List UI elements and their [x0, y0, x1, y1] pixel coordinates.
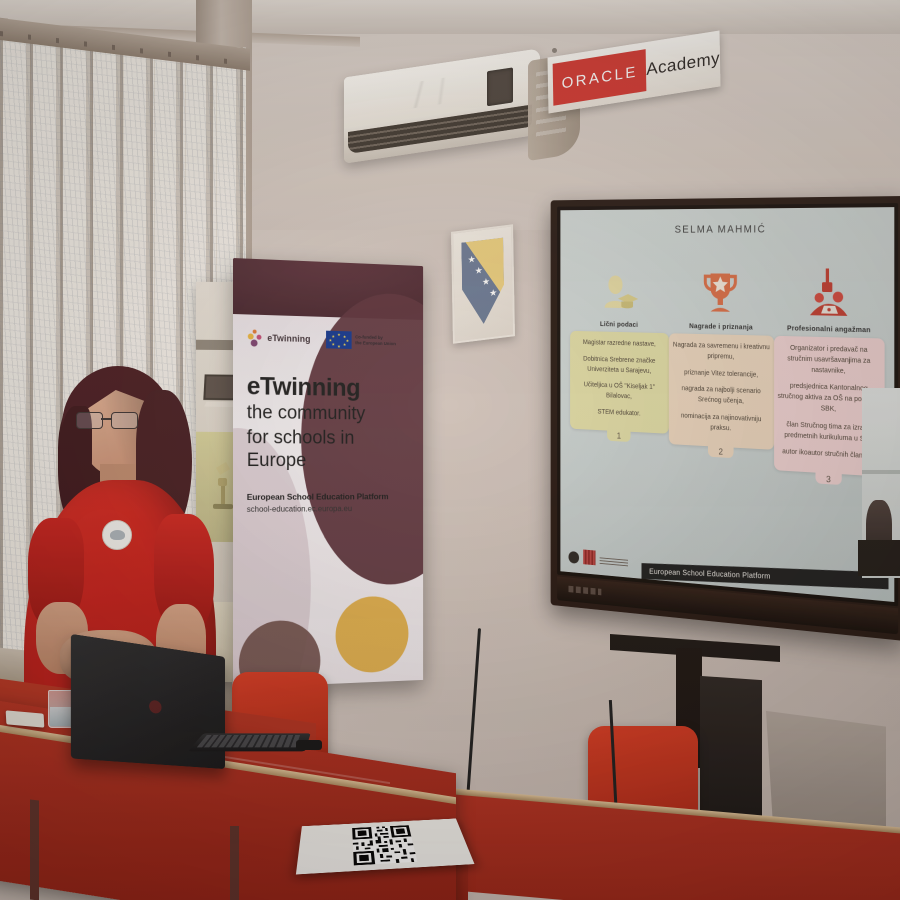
card-line: nominacija za najinovativniju praksu. — [673, 410, 771, 435]
slide-column: Nagrade i priznanja Nagrada za savremenu… — [673, 258, 771, 470]
room-photo-scene: ORACLE Academy ★ ★ ★ ★ ★ SELMA MAH — [0, 0, 900, 900]
footer-band: European School Education Platform — [642, 563, 889, 589]
slide-footer-logos — [568, 548, 628, 568]
text-logo-icon — [600, 557, 628, 568]
card-line: nagrada za najbolji scenario Srećnog uče… — [673, 384, 771, 409]
slide-columns: Lični podaci Magistar razredne nastave, … — [573, 258, 880, 477]
name-badge — [102, 520, 132, 550]
banner-subhead-2: for schools in Europe — [247, 428, 410, 473]
academy-label: Academy — [646, 48, 720, 80]
column-heading: Lični podaci — [600, 320, 638, 329]
column-heading: Profesionalni angažman — [787, 324, 871, 335]
graduate-person-icon — [600, 258, 638, 316]
column-card: Nagrada za savremenu i kreativnu priprem… — [669, 333, 774, 449]
card-line: Učiteljica u OŠ "Kiseljak 1" Bilalovac, — [573, 380, 665, 404]
slide-title: SELMA MAHMIĆ — [560, 223, 894, 236]
banner-content: eTwinning ★★ ★★ ★★ ★★ Co-funded by the E… — [233, 314, 423, 688]
banner-url: school-education.ec.europa.eu — [247, 504, 410, 514]
card-line: Organizator i predavač na stručnim usavr… — [777, 343, 880, 378]
ac-display-icon — [487, 68, 512, 106]
people-at-desk-icon — [802, 259, 854, 320]
eu-funding-text: Co-funded by the European Union — [355, 334, 396, 347]
slide-column: Lični podaci Magistar razredne nastave, … — [573, 258, 665, 464]
desk-leg — [30, 800, 39, 900]
eyeglasses-icon — [76, 412, 138, 429]
banner-headline: eTwinning — [247, 374, 410, 401]
screen-bezel: SELMA MAHMIĆ Lični podaci — [557, 203, 898, 606]
footer-band-label: European School Education Platform — [649, 567, 770, 580]
card-line: Nagrada za savremenu i kreativnu priprem… — [673, 340, 771, 363]
oracle-wordmark: ORACLE — [561, 63, 637, 92]
coat-of-arms-plaque: ★ ★ ★ ★ ★ — [451, 224, 515, 343]
bosnia-coat-of-arms-icon: ★ ★ ★ ★ ★ — [461, 238, 504, 327]
circle-logo-icon — [568, 551, 579, 564]
card-number: 2 — [669, 443, 774, 462]
etwinning-rollup-banner: eTwinning ★★ ★★ ★★ ★★ Co-funded by the E… — [233, 258, 423, 688]
eu-funding-logo: ★★ ★★ ★★ ★★ Co-funded by the European Un… — [326, 331, 396, 350]
card-line: Dobitnica Srebrene značke Univerziteta u… — [573, 354, 665, 377]
card-line: priznanje Vitez tolerancije, — [673, 367, 771, 381]
column-card: Magistar razredne nastave, Dobitnica Sre… — [570, 331, 669, 434]
banner-platform-label: European School Education Platform — [247, 492, 410, 503]
sign-screw — [552, 48, 557, 53]
card-line: STEM edukator. — [573, 406, 665, 420]
book-logo-icon — [583, 549, 595, 565]
etwinning-mark-icon — [247, 329, 264, 346]
laptop-cable — [296, 740, 322, 750]
far-window-mullion — [862, 470, 900, 474]
qr-code-icon — [352, 825, 417, 865]
oracle-logo-box: ORACLE — [553, 49, 647, 105]
etwinning-logo: eTwinning — [247, 329, 311, 348]
trophy-icon — [700, 258, 742, 318]
eu-flag-icon: ★★ ★★ ★★ ★★ — [326, 331, 352, 349]
etwinning-logo-text: eTwinning — [267, 333, 310, 344]
column-heading: Nagrade i priznanja — [689, 321, 753, 331]
banner-subhead-1: the community — [247, 402, 410, 426]
far-desk — [858, 540, 900, 576]
card-line: Magistar razredne nastave, — [573, 337, 665, 350]
wall-display-screen[interactable]: SELMA MAHMIĆ Lični podaci — [551, 196, 900, 641]
laptop-keyboard[interactable] — [197, 735, 300, 747]
banner-logo-row: eTwinning ★★ ★★ ★★ ★★ Co-funded by the E… — [247, 328, 410, 350]
desk-leg — [230, 826, 239, 900]
card-number: 1 — [570, 428, 669, 446]
academy-label-box: Academy — [646, 48, 720, 80]
presentation-slide: SELMA MAHMIĆ Lični podaci — [560, 207, 894, 602]
screen-brand-icon — [568, 586, 601, 596]
